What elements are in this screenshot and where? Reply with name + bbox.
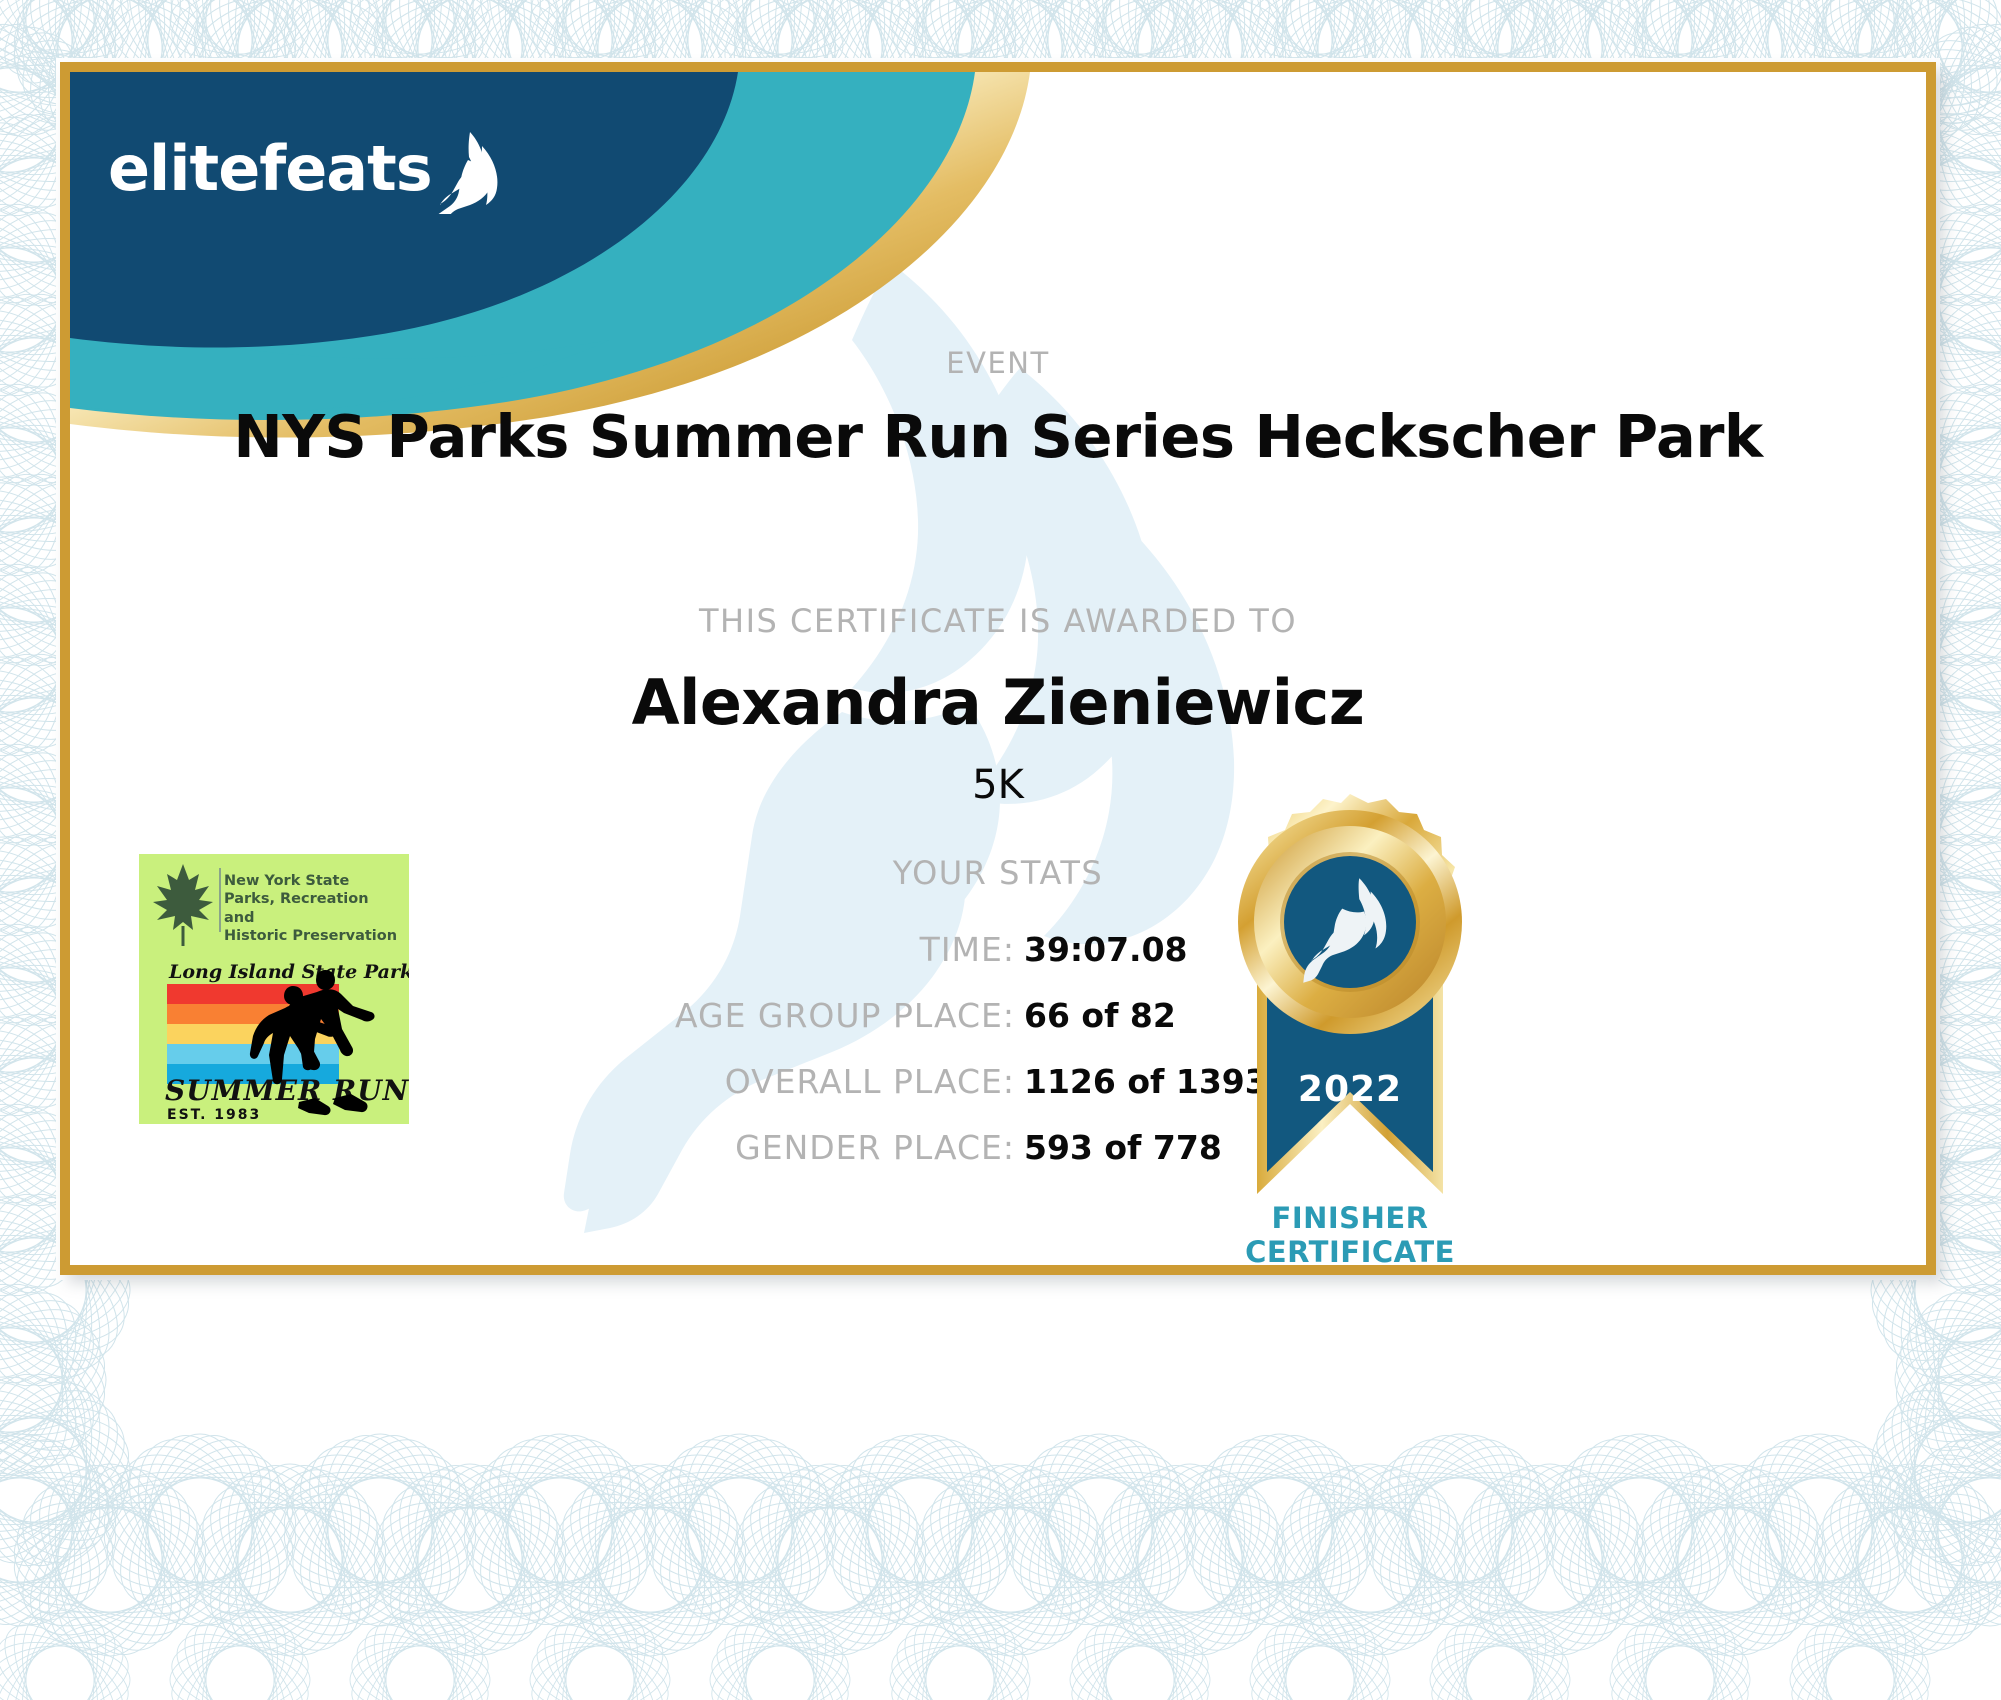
- series-title: Long Island State Parks: [168, 961, 409, 983]
- series-name: SUMMER RUN: [165, 1074, 409, 1107]
- stat-label: GENDER PLACE:: [70, 1128, 1015, 1167]
- medal-year: 2022: [1298, 1069, 1402, 1110]
- series-established: EST. 1983: [167, 1107, 261, 1123]
- race-distance: 5K: [70, 762, 1926, 808]
- sponsor-agency-text: New York State Parks, Recreation and His…: [224, 872, 399, 945]
- agency-line-1: New York State: [224, 872, 399, 890]
- stat-value: 593 of 778: [1024, 1128, 1222, 1167]
- certificate-content: EVENT NYS Parks Summer Run Series Hecksc…: [70, 72, 1926, 1265]
- finisher-medal-badge: 2022: [1205, 794, 1495, 1214]
- awarded-to-label: THIS CERTIFICATE IS AWARDED TO: [70, 602, 1926, 640]
- stat-value: 66 of 82: [1024, 996, 1176, 1035]
- gold-frame: elitefeats EVENT NYS Parks Summer Run Se…: [60, 62, 1936, 1275]
- certificate-body: elitefeats EVENT NYS Parks Summer Run Se…: [70, 72, 1926, 1265]
- certificate-page: elitefeats EVENT NYS Parks Summer Run Se…: [0, 0, 2001, 1700]
- event-label: EVENT: [70, 346, 1926, 380]
- recipient-name: Alexandra Zieniewicz: [70, 666, 1926, 739]
- summer-run-emblem: Long Island State Parks SUMMER RUN EST. …: [139, 952, 409, 1124]
- agency-line-2: Parks, Recreation and: [224, 890, 399, 927]
- event-title: NYS Parks Summer Run Series Heckscher Pa…: [70, 402, 1926, 471]
- sponsor-logo: New York State Parks, Recreation and His…: [139, 854, 409, 1124]
- stat-value: 39:07.08: [1024, 930, 1188, 969]
- medal-caption-line-2: CERTIFICATE: [1175, 1236, 1525, 1265]
- stat-row-gender-place: GENDER PLACE: 593 of 778: [70, 1128, 1926, 1194]
- agency-line-3: Historic Preservation: [224, 927, 399, 945]
